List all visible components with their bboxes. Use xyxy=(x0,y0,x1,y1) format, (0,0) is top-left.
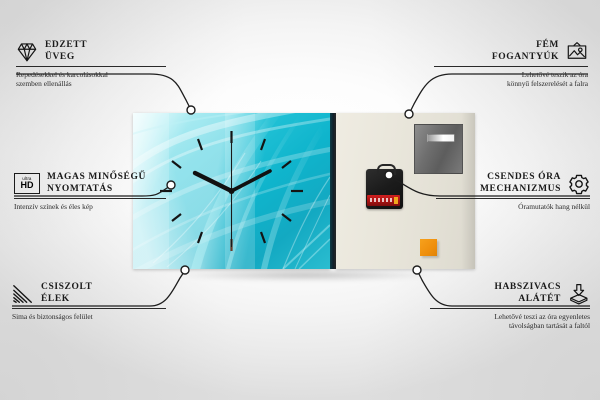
battery xyxy=(367,195,400,206)
feature-desc-line1: Lehetővé teszik az óra xyxy=(434,70,588,79)
feature-rule xyxy=(430,308,590,309)
feature-desc-line1: Óramutatók hang nélkül xyxy=(436,202,590,211)
feature-polished-edges: CSISZOLT ÉLEK Sima és biztonságos felüle… xyxy=(12,282,166,321)
feature-header: EDZETT ÜVEG xyxy=(16,40,166,63)
product-image xyxy=(133,113,475,269)
foam-pad xyxy=(420,239,437,256)
feature-tempered-glass: EDZETT ÜVEG Repedésekkel és karcolásokka… xyxy=(16,40,166,88)
feature-title-line2: FOGANTYÚK xyxy=(492,52,559,64)
feature-title-line1: CSISZOLT xyxy=(41,282,92,294)
hanger-slot xyxy=(427,134,455,142)
feature-title-line1: CSENDES ÓRA xyxy=(480,172,561,184)
feature-header: CSISZOLT ÉLEK xyxy=(12,282,166,305)
foam-pad-icon xyxy=(568,283,590,305)
feature-desc-line2: szemben ellenállás xyxy=(16,79,166,88)
feature-title-line2: ALÁTÉT xyxy=(494,294,561,306)
feature-desc-line1: Intenzív színek és éles kép xyxy=(14,202,166,211)
feature-desc-line2: távolságban tartását a faltól xyxy=(430,321,590,330)
feature-foam-pad: HABSZIVACS ALÁTÉT Lehetővé teszi az óra … xyxy=(430,282,590,330)
feature-header: CSENDES ÓRA MECHANIZMUS xyxy=(436,172,590,195)
feature-rule xyxy=(436,198,590,199)
feature-title-line2: ÉLEK xyxy=(41,294,92,306)
gear-icon xyxy=(568,173,590,195)
polished-edge-icon xyxy=(12,283,34,305)
feature-title-line1: EDZETT xyxy=(45,40,87,52)
feature-title-line1: HABSZIVACS xyxy=(494,282,561,294)
ultra-hd-icon-hd: HD xyxy=(21,181,34,190)
feature-desc-line1: Lehetővé teszi az óra egyenletes xyxy=(430,312,590,321)
feature-title-line2: MECHANIZMUS xyxy=(480,184,561,196)
metal-hanger-plate xyxy=(414,124,463,174)
feature-desc-line1: Sima és biztonságos felület xyxy=(12,312,166,321)
quiet-clock-mechanism xyxy=(366,169,403,209)
feature-header: HABSZIVACS ALÁTÉT xyxy=(430,282,590,305)
feature-rule xyxy=(434,66,588,67)
diamond-icon xyxy=(16,41,38,63)
feature-desc-line1: Repedésekkel és karcolásokkal xyxy=(16,70,166,79)
feature-high-quality-print: ultra HD MAGAS MINŐSÉGŰ NYOMTATÁS Intenz… xyxy=(14,172,166,211)
feature-rule xyxy=(16,66,166,67)
feature-metal-handles: FÉM FOGANTYÚK Lehetővé teszik az óra kön… xyxy=(434,40,588,88)
infographic-canvas: EDZETT ÜVEG Repedésekkel és karcolásokka… xyxy=(0,0,600,400)
picture-hanger-icon xyxy=(566,41,588,63)
feature-title-line2: ÜVEG xyxy=(45,52,87,64)
battery-terminal xyxy=(394,197,398,204)
feature-rule xyxy=(12,308,166,309)
feature-quiet-mechanism: CSENDES ÓRA MECHANIZMUS Óramutatók hang … xyxy=(436,172,590,211)
feature-header: ultra HD MAGAS MINŐSÉGŰ NYOMTATÁS xyxy=(14,172,166,195)
battery-label xyxy=(370,198,392,202)
feature-title-line1: MAGAS MINŐSÉGŰ xyxy=(47,172,146,184)
feature-rule xyxy=(14,198,166,199)
mechanism-loop xyxy=(377,164,396,175)
ultra-hd-icon: ultra HD xyxy=(14,173,40,194)
feature-title-line2: NYOMTATÁS xyxy=(47,184,146,196)
feature-header: FÉM FOGANTYÚK xyxy=(434,40,588,63)
feature-title-line1: FÉM xyxy=(492,40,559,52)
feature-desc-line2: könnyű felszerelését a falra xyxy=(434,79,588,88)
